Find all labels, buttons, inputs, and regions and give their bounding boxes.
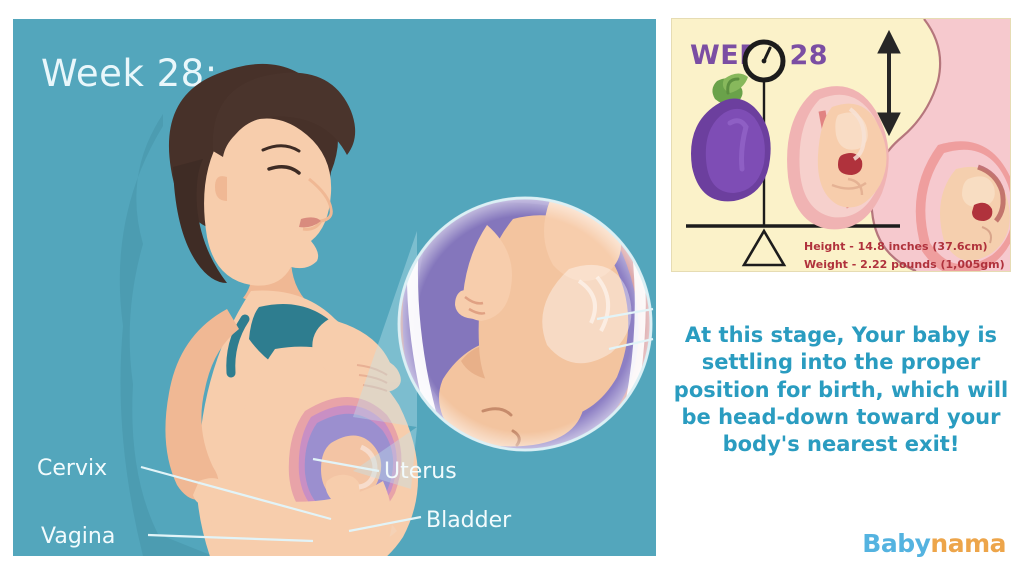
double-headed-vertical-arrow-icon	[878, 31, 900, 135]
fetus-in-womb-icon	[787, 86, 889, 229]
pink-pregnant-silhouette	[872, 19, 1010, 271]
magnified-womb-circle	[398, 192, 656, 454]
logo-part-nama: nama	[930, 529, 1006, 558]
week-size-comparison-card: WEEK 28	[671, 18, 1011, 272]
anatomy-label-bladder: Bladder	[426, 508, 511, 533]
gauge-dial-icon	[745, 42, 783, 80]
stat-weight: Weight - 2.22 pounds (1,005gm)	[804, 258, 1005, 271]
logo-part-baby: Baby	[862, 529, 930, 558]
anatomy-label-uterus: Uterus	[384, 459, 457, 484]
week-illustration-panel: Week 28:	[13, 19, 656, 556]
eggplant-icon	[691, 73, 771, 201]
pregnant-woman-illustration	[13, 19, 656, 556]
scale-fulcrum	[744, 231, 784, 265]
anatomy-label-cervix: Cervix	[37, 456, 107, 481]
description-text: At this stage, Your baby is settling int…	[671, 322, 1011, 458]
stat-height: Height - 14.8 inches (37.6cm)	[804, 240, 988, 253]
babynama-logo: Babynama	[862, 529, 1006, 558]
anatomy-label-vagina: Vagina	[41, 524, 115, 549]
balance-scale-illustration	[672, 19, 1010, 271]
